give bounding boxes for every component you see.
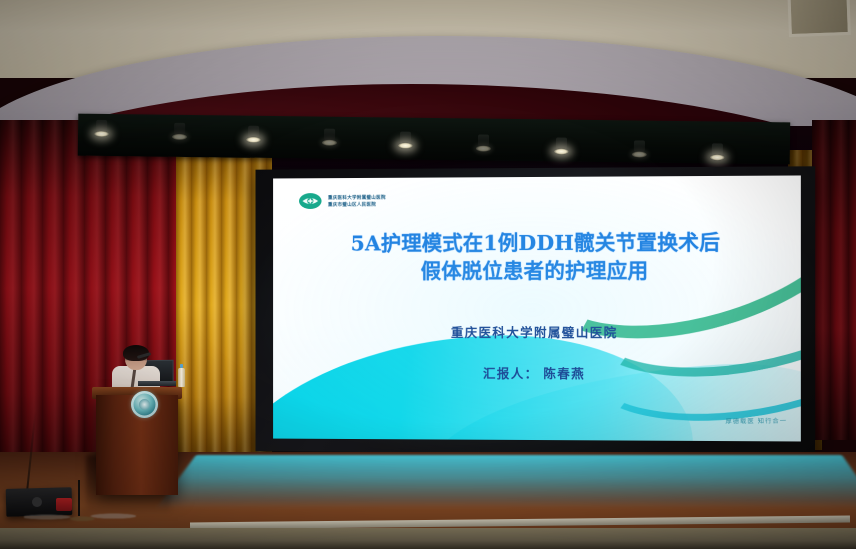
auditorium-stage-scene: 重庆医科大学附属璧山医院 重庆市璧山区人民医院 5A护理模式在1例DDH髋关节置…	[0, 0, 856, 549]
slide-slogan: 厚德载医 知行合一	[725, 416, 787, 426]
slide-affiliation: 重庆医科大学附属璧山医院	[273, 322, 801, 341]
stage-spotlight-icon	[712, 143, 723, 156]
stage-spotlight-icon	[96, 120, 107, 133]
slide-logo-line2: 重庆市璧山区人民医院	[328, 201, 386, 207]
stage-spotlight-icon	[634, 140, 645, 153]
stage-spotlight-icon	[478, 135, 489, 148]
stage-spotlight-icon	[248, 126, 259, 139]
lighting-truss	[78, 114, 790, 165]
slide-presenter: 汇报人： 陈春燕	[273, 362, 801, 382]
slide-title-line1: 5A护理模式在1例DDH髋关节置换术后	[287, 228, 787, 257]
stage-spotlight-icon	[174, 123, 185, 136]
floor-cables	[24, 508, 136, 526]
red-stage-curtain-right	[812, 120, 856, 440]
stage-apron-edge	[0, 528, 856, 549]
screen-reflection-on-floor	[156, 455, 856, 509]
slide-logo-block: 重庆医科大学附属璧山医院 重庆市璧山区人民医院	[299, 192, 386, 210]
slide-title: 5A护理模式在1例DDH髋关节置换术后 假体脱位患者的护理应用	[273, 228, 801, 285]
presentation-slide[interactable]: 重庆医科大学附属璧山医院 重庆市璧山区人民医院 5A护理模式在1例DDH髋关节置…	[273, 175, 801, 441]
stage-spotlight-icon	[324, 129, 335, 142]
led-screen-bezel: 重庆医科大学附属璧山医院 重庆市璧山区人民医院 5A护理模式在1例DDH髋关节置…	[256, 166, 816, 454]
stage-spotlight-icon	[400, 132, 411, 145]
slide-title-line2: 假体脱位患者的护理应用	[287, 256, 787, 285]
stage-spotlight-icon	[556, 137, 567, 150]
presentation-laptop-base[interactable]	[138, 381, 176, 386]
hospital-logo-icon	[299, 192, 323, 210]
ceiling-vent-panel	[787, 0, 851, 37]
hospital-seal-emblem-icon	[131, 391, 158, 418]
water-bottle-icon[interactable]	[178, 368, 185, 387]
slide-subtitle-block: 重庆医科大学附属璧山医院 汇报人： 陈春燕	[273, 322, 801, 383]
slide-logo-line1: 重庆医科大学附属璧山医院	[328, 195, 386, 201]
